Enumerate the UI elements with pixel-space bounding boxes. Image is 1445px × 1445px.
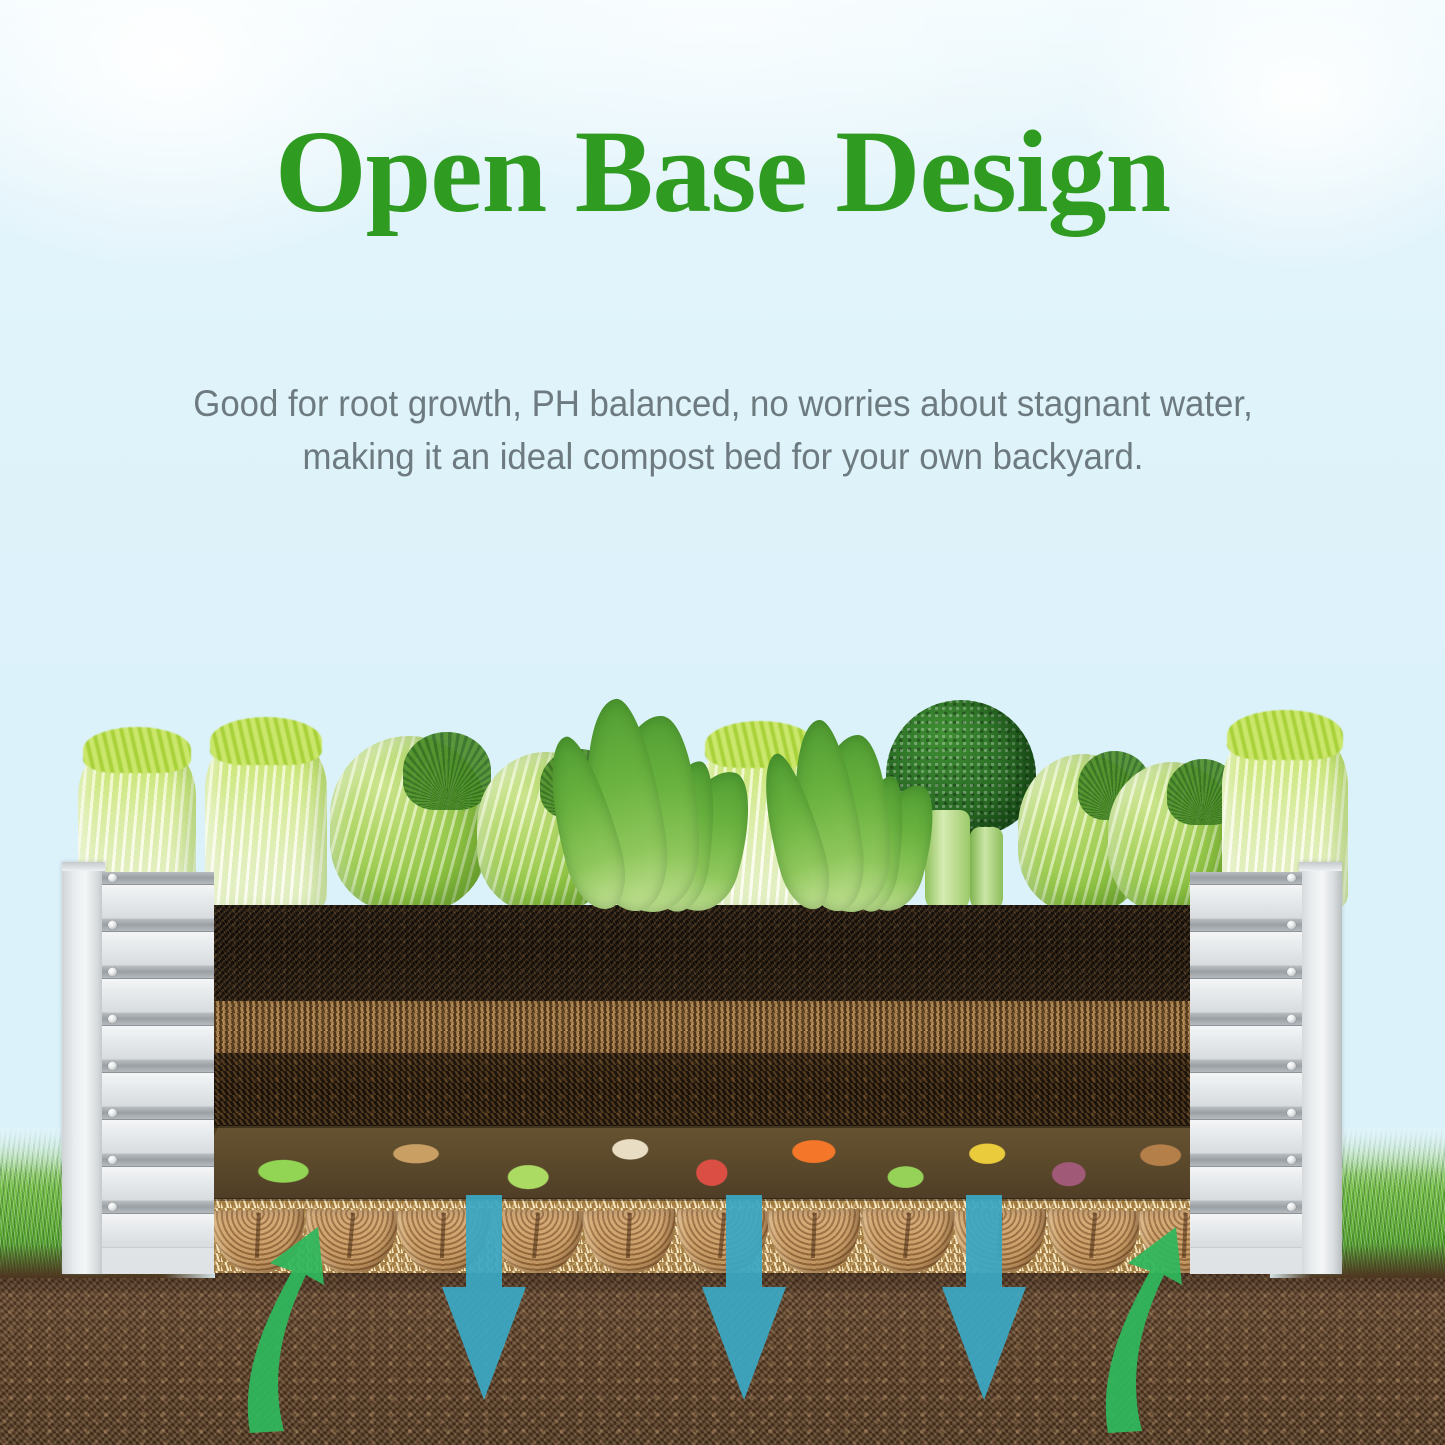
- cabbage-head: [330, 736, 488, 912]
- panel-rib: [1190, 966, 1302, 979]
- screw-icon: [108, 921, 117, 930]
- page-subtitle: Good for root growth, PH balanced, no wo…: [97, 378, 1347, 483]
- screw-icon: [108, 1109, 117, 1118]
- screw-icon: [1287, 1015, 1296, 1024]
- screw-icon: [1287, 1062, 1296, 1071]
- screw-icon: [108, 1156, 117, 1165]
- napa-cabbage: [205, 726, 327, 912]
- panel-rib: [1190, 919, 1302, 932]
- panel-rib: [102, 966, 214, 979]
- panel-rib: [1190, 1013, 1302, 1026]
- panel-slat: [1190, 885, 1302, 919]
- panel-rib: [102, 1154, 214, 1167]
- layer-kitchen-scraps: [212, 1126, 1232, 1199]
- panel-slat: [1190, 979, 1302, 1013]
- drainage-down-center-arrow: [690, 1195, 800, 1415]
- screw-icon: [1287, 1109, 1296, 1118]
- screw-icon: [1287, 968, 1296, 977]
- subtitle-line-1: Good for root growth, PH balanced, no wo…: [193, 383, 1252, 424]
- panel-slat: [102, 932, 214, 966]
- screw-icon: [108, 968, 117, 977]
- drainage-down-left-arrow: [430, 1195, 540, 1415]
- post-cap: [62, 862, 105, 871]
- airflow-up-left-arrow: [232, 1223, 342, 1443]
- panel-rib: [102, 1013, 214, 1026]
- panel-rib: [102, 872, 214, 885]
- screw-icon: [108, 874, 117, 883]
- panel-slat: [102, 979, 214, 1013]
- infographic-canvas: Open Base Design Good for root growth, P…: [0, 0, 1445, 1445]
- flow-arrow-layer: [0, 1195, 1445, 1445]
- panel-slat: [102, 1073, 214, 1107]
- panel-rib: [102, 919, 214, 932]
- panel-slat: [1190, 1073, 1302, 1107]
- drainage-down-right-arrow: [930, 1195, 1040, 1415]
- layer-mulch: [212, 1001, 1232, 1053]
- layer-compost-top: [212, 905, 1232, 1001]
- layer-compost-mid: [212, 1053, 1232, 1126]
- screw-icon: [1287, 874, 1296, 883]
- panel-slat: [1190, 1026, 1302, 1060]
- panel-rib: [1190, 872, 1302, 885]
- panel-rib: [1190, 1154, 1302, 1167]
- broccoli-stalk: [970, 827, 1003, 912]
- panel-slat: [102, 1120, 214, 1154]
- panel-slat: [1190, 1120, 1302, 1154]
- panel-slat: [102, 885, 214, 919]
- screw-icon: [108, 1062, 117, 1071]
- page-title: Open Base Design: [0, 112, 1445, 232]
- panel-rib: [1190, 1060, 1302, 1073]
- panel-rib: [1190, 1107, 1302, 1120]
- post-cap: [1299, 862, 1342, 871]
- screw-icon: [108, 1015, 117, 1024]
- panel-rib: [102, 1060, 214, 1073]
- screw-icon: [1287, 1156, 1296, 1165]
- panel-rib: [102, 1107, 214, 1120]
- screw-icon: [1287, 921, 1296, 930]
- airflow-up-right-arrow: [1090, 1223, 1200, 1443]
- subtitle-line-2: making it an ideal compost bed for your …: [302, 436, 1143, 477]
- layer-divider: [212, 1125, 1232, 1128]
- panel-slat: [1190, 932, 1302, 966]
- panel-slat: [102, 1026, 214, 1060]
